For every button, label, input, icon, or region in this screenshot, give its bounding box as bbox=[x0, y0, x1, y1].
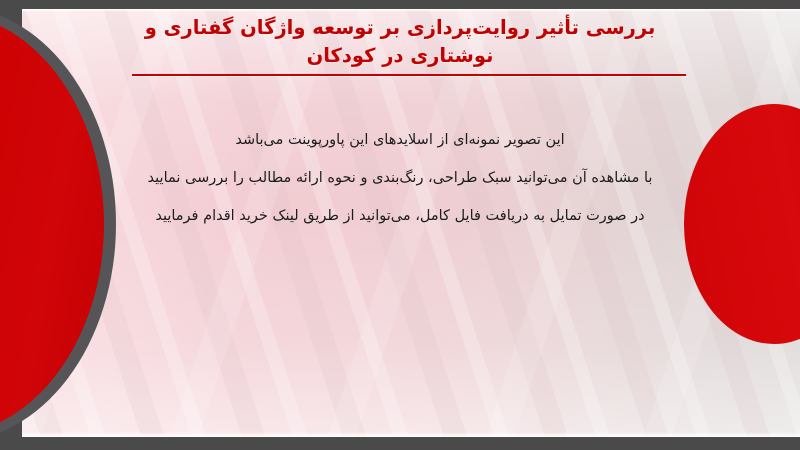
title-block: بررسی تأثیر روایت‌پردازی بر توسعه واژگان… bbox=[0, 14, 800, 71]
body-text-block: این تصویر نمونه‌ای از اسلایدهای این پاور… bbox=[0, 122, 800, 236]
presentation-slide: بررسی تأثیر روایت‌پردازی بر توسعه واژگان… bbox=[0, 0, 800, 450]
slide-title: بررسی تأثیر روایت‌پردازی بر توسعه واژگان… bbox=[120, 14, 680, 71]
body-line-2: با مشاهده آن می‌توانید سبک طراحی، رنگ‌بن… bbox=[0, 160, 800, 198]
title-underline-rule bbox=[132, 74, 686, 76]
body-line-1: این تصویر نمونه‌ای از اسلایدهای این پاور… bbox=[0, 122, 800, 160]
slide-content: بررسی تأثیر روایت‌پردازی بر توسعه واژگان… bbox=[0, 0, 800, 450]
body-line-3: در صورت تمایل به دریافت فایل کامل، می‌تو… bbox=[0, 198, 800, 236]
